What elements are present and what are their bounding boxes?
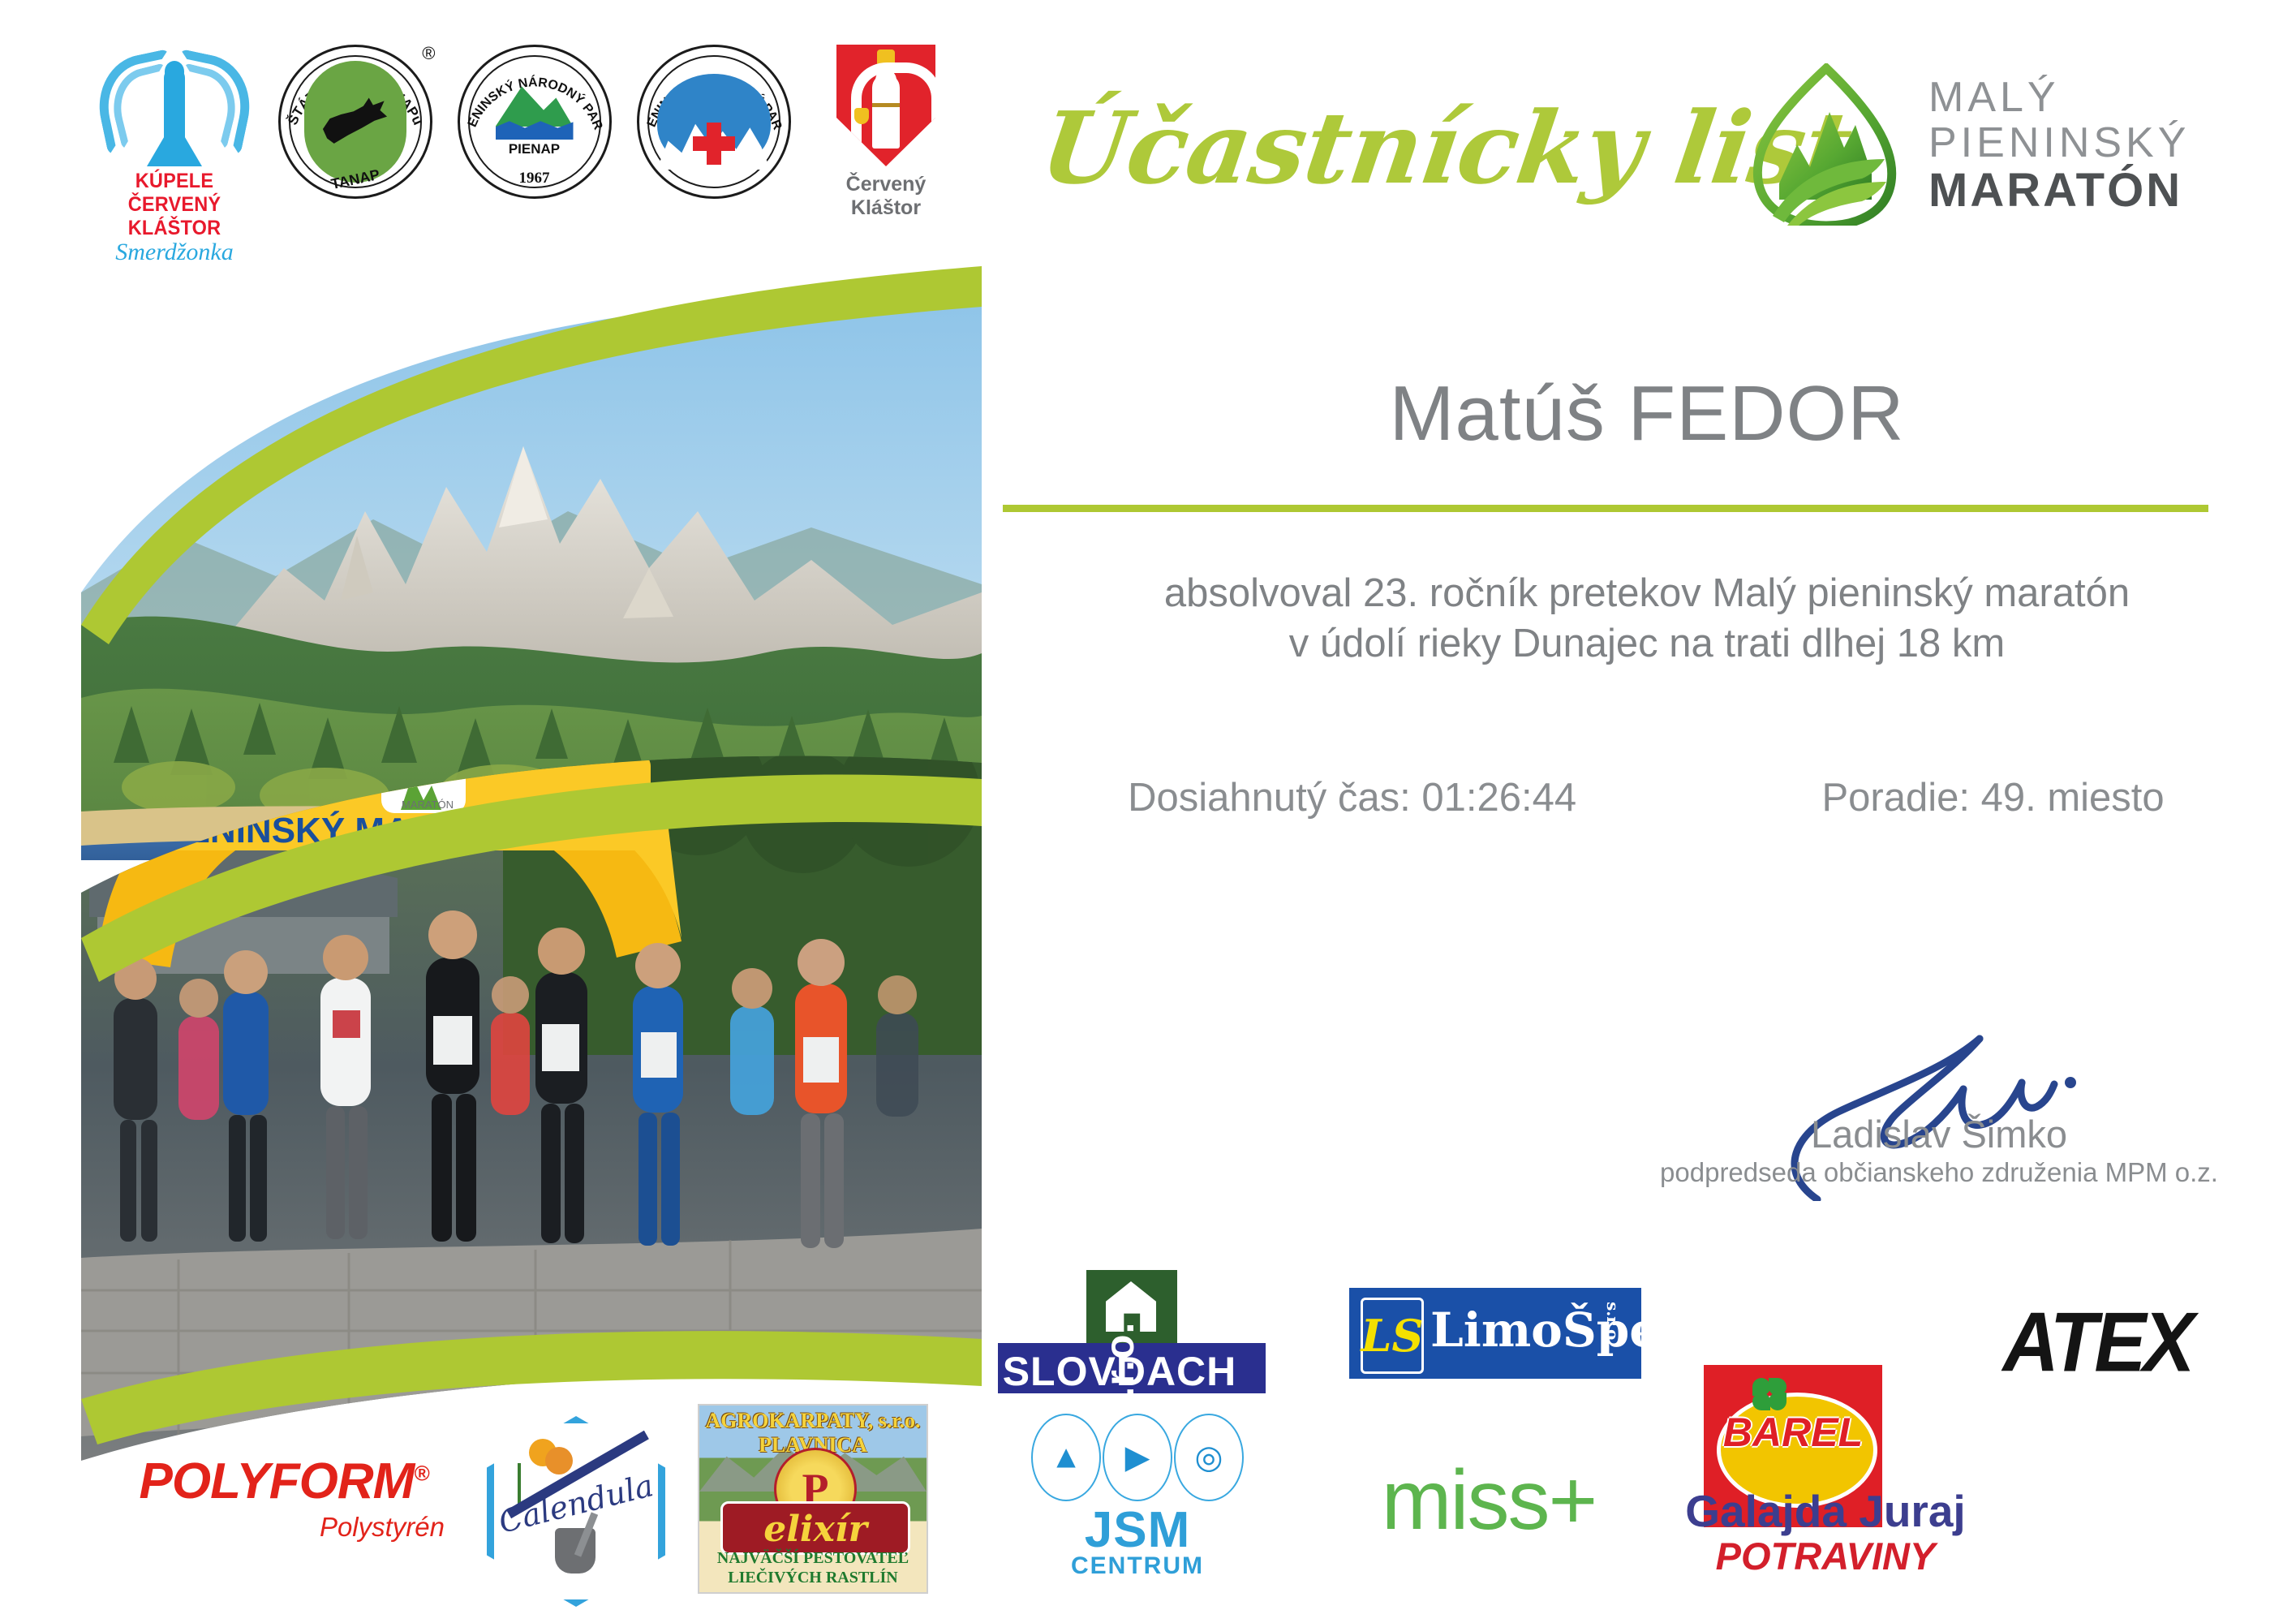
signature-block: Ladislav Šimko podpredseda občianskeho z… xyxy=(1655,998,2223,1201)
sponsor-slovdach: SLOVDACH s.r.o. xyxy=(998,1270,1266,1393)
coat-of-arms-icon xyxy=(836,45,935,166)
pienap-label: PIENAP xyxy=(496,141,574,157)
angel-icon xyxy=(93,45,256,166)
barel-wordmark: BAREL xyxy=(1704,1409,1882,1456)
sponsor-atex: ATEX xyxy=(1955,1295,2239,1392)
svg-text:MARATÓN: MARATÓN xyxy=(402,799,454,811)
limospes-monogram: LS xyxy=(1361,1310,1424,1362)
limospes-wordmark: LimoŠpes xyxy=(1430,1302,1686,1358)
paint-brush-icon: ▲ xyxy=(1031,1414,1101,1501)
sponsor-limospes: LS LimoŠpes s.r.o. xyxy=(1349,1288,1641,1379)
pienap-seal: PIENINSKÝ NÁRODNÝ PARK PIENAP 1967 xyxy=(458,45,612,199)
jsm-subtitle: CENTRUM xyxy=(1024,1552,1251,1580)
certificate-page: KÚPELE ČERVENÝ KLÁŠTOR Smerdžonka ŠTÁTNE… xyxy=(0,0,2296,1623)
pienap-mountain-icon: PIENAP xyxy=(496,83,574,157)
logo-kupele-cerveny-klastor: KÚPELE ČERVENÝ KLÁŠTOR Smerdžonka xyxy=(89,45,260,266)
elixir-wordmark: elixír xyxy=(723,1509,908,1550)
placement: Poradie: 49. miesto xyxy=(1698,775,2288,820)
kupele-title: KÚPELE ČERVENÝ KLÁŠTOR xyxy=(94,170,254,240)
sponsor-agrokarpaty: AGROKARPATY, s.r.o. PLAVNICA P elixír NA… xyxy=(698,1404,928,1594)
agrokarpaty-footer-line-1: NAJVÄČŠÍ PESTOVATEĽ xyxy=(699,1548,927,1568)
mountain-rescue-icon xyxy=(657,74,771,170)
finish-time: Dosiahnutý čas: 01:26:44 xyxy=(1006,775,1698,820)
signer-role: podpredseda občianskeho združenia MPM o.… xyxy=(1655,1157,2223,1188)
horska-sluzba-seal: PIENINSKÝ NÁRODNÝ PARK HORSKÁ SLUŽBA xyxy=(637,45,791,199)
elixir-banner: elixír xyxy=(720,1501,910,1555)
polyform-wordmark: POLYFORM® xyxy=(114,1453,454,1510)
result-stats: Dosiahnutý čas: 01:26:44 Poradie: 49. mi… xyxy=(1006,775,2288,820)
mpm-line-3: MARATÓN xyxy=(1928,166,2190,216)
sponsor-calendula: Calendula xyxy=(487,1416,665,1607)
slovdach-wordmark: SLOVDACH s.r.o. xyxy=(998,1343,1266,1393)
sponsor-polyform: POLYFORM® Polystyrén xyxy=(114,1453,454,1543)
mpm-line-1: MALÝ xyxy=(1928,75,2190,120)
agrokarpaty-footer: NAJVÄČŠÍ PESTOVATEĽ LIEČIVÝCH RASTLÍN xyxy=(699,1548,927,1587)
sponsor-miss: miss+ xyxy=(1351,1453,1627,1549)
page-title: Účastnícky list xyxy=(1034,89,1858,206)
registered-icon: ® xyxy=(422,43,435,64)
shower-icon: ◎ xyxy=(1174,1414,1244,1501)
sponsor-galajda-juraj: Galajda Juraj POTRAVINY xyxy=(1663,1485,1988,1578)
divider-rule xyxy=(1003,505,2208,512)
agrokarpaty-footer-line-2: LIEČIVÝCH RASTLÍN xyxy=(699,1568,927,1587)
jsm-wordmark: JSM xyxy=(1024,1501,1251,1559)
tanap-seal: ŠTÁTNE LESY TANAPu Tatranská Lomnica TAN… xyxy=(278,45,432,199)
logo-statne-lesy-tanapu: ŠTÁTNE LESY TANAPu Tatranská Lomnica TAN… xyxy=(268,45,442,199)
mpm-wordmark: MALÝ PIENINSKÝ MARATÓN xyxy=(1928,75,2190,216)
limospes-suffix: s.r.o. xyxy=(1603,1302,1623,1345)
limospes-badge-icon: LS xyxy=(1361,1298,1424,1374)
logo-pienap: PIENINSKÝ NÁRODNÝ PARK PIENAP 1967 xyxy=(447,45,621,199)
description-line-1: absolvoval 23. ročník pretekov Malý pien… xyxy=(1006,568,2288,618)
certificate-description: absolvoval 23. ročník pretekov Malý pien… xyxy=(1006,568,2288,669)
logo-cerveny-klastor: Červený Kláštor xyxy=(809,45,963,220)
pienap-year: 1967 xyxy=(519,170,550,187)
leaf-mountain-icon xyxy=(1748,63,1903,226)
sponsor-jsm-centrum: ▲ ▶ ◎ JSM CENTRUM xyxy=(1024,1414,1251,1580)
mpm-brand-logo: MALÝ PIENINSKÝ MARATÓN xyxy=(1748,63,2284,226)
cerveny-klastor-caption: Červený Kláštor xyxy=(809,173,963,220)
signer-name: Ladislav Šimko xyxy=(1655,1112,2223,1156)
polyform-name: POLYFORM xyxy=(140,1453,415,1509)
galajda-name: Galajda Juraj xyxy=(1663,1485,1988,1537)
description-line-2: v údolí rieky Dunajec na trati dlhej 18 … xyxy=(1006,618,2288,669)
mpm-line-2: PIENINSKÝ xyxy=(1928,120,2190,166)
polyform-tagline: Polystyrén xyxy=(114,1512,454,1543)
jsm-icon-group: ▲ ▶ ◎ xyxy=(1024,1414,1251,1501)
galajda-subtitle: POTRAVINY xyxy=(1663,1534,1988,1578)
tools-icon: ▶ xyxy=(1103,1414,1172,1501)
chamois-icon xyxy=(304,61,406,183)
clover-icon xyxy=(1752,1378,1790,1410)
registered-icon: ® xyxy=(414,1461,428,1485)
participant-name: Matúš FEDOR xyxy=(1006,369,2288,458)
logo-horska-sluzba: PIENINSKÝ NÁRODNÝ PARK HORSKÁ SLUŽBA xyxy=(626,45,801,199)
partner-logo-strip: KÚPELE ČERVENÝ KLÁŠTOR Smerdžonka ŠTÁTNE… xyxy=(89,45,965,239)
photo-collage: MALÝ PIENINSKÝ MARATÓN MARATÓN xyxy=(81,243,982,1477)
